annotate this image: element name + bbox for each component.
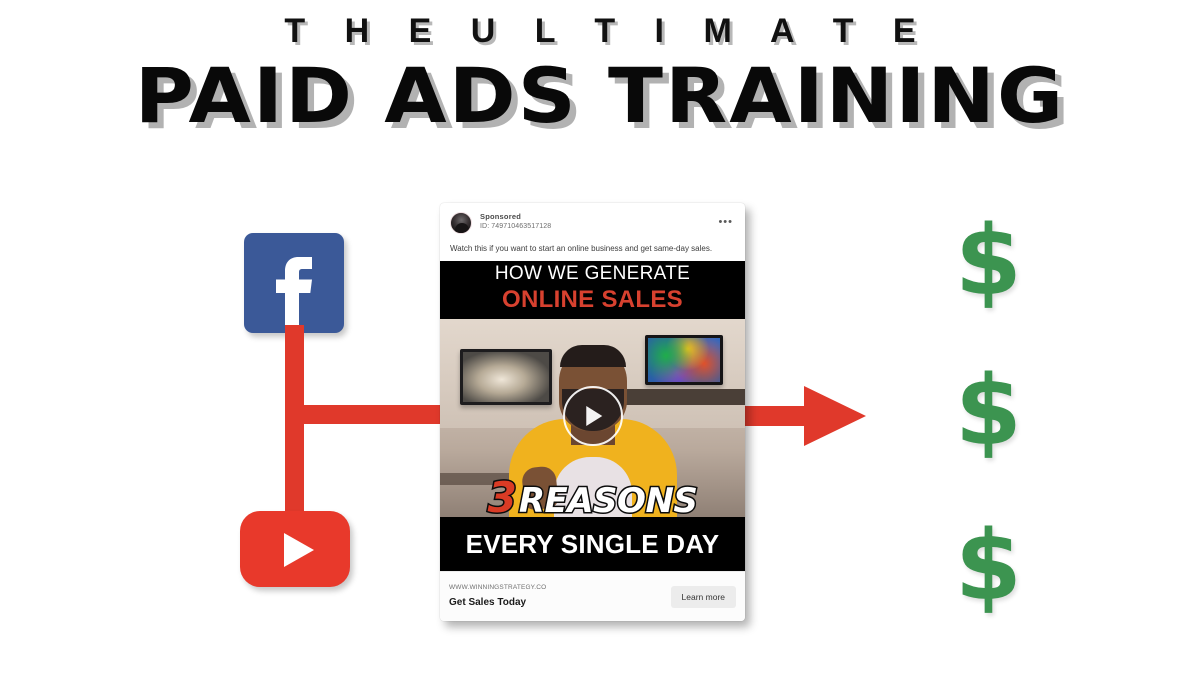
connector-vertical — [285, 325, 304, 530]
sponsored-label: Sponsored — [480, 212, 551, 221]
person-hair — [560, 345, 626, 367]
leads-to-arrow-icon — [742, 380, 867, 452]
thumbnail-top-banner: HOW WE GENERATE ONLINE SALES — [440, 261, 745, 319]
ad-caption-text: Watch this if you want to start an onlin… — [440, 234, 745, 261]
advertiser-avatar — [450, 212, 472, 234]
thumbnail-overlay-text: 3REASONS — [488, 477, 698, 519]
facebook-ad-card[interactable]: Sponsored ID: 749710463517128 ••• Watch … — [440, 203, 745, 621]
slide-canvas: T H E U L T I M A T E PAID ADS TRAINING … — [0, 0, 1200, 679]
facebook-icon[interactable] — [244, 233, 344, 333]
ad-video-thumbnail[interactable]: HOW WE GENERATE ONLINE SALES 3REASONS EV… — [440, 261, 745, 571]
play-button[interactable] — [563, 386, 623, 446]
ad-footer-text: WWW.WINNINGSTRATEGY.CO Get Sales Today — [449, 584, 546, 608]
ad-footer-headline: Get Sales Today — [449, 596, 546, 609]
ad-header-text: Sponsored ID: 749710463517128 — [480, 212, 551, 232]
facebook-f-glyph — [244, 233, 344, 333]
learn-more-button[interactable]: Learn more — [671, 586, 736, 608]
youtube-play-glyph — [240, 511, 350, 587]
dollar-sign-icon-2: $ — [955, 363, 1022, 459]
overlay-number: 3 — [488, 473, 516, 522]
overlay-word: REASONS — [519, 481, 698, 521]
title-line-1: T H E U L T I M A T E — [0, 14, 1200, 48]
youtube-icon[interactable] — [240, 511, 350, 587]
thumbnail-headline-line-2: ONLINE SALES — [440, 286, 745, 314]
title-line-2: PAID ADS TRAINING — [0, 56, 1200, 136]
thumbnail-bottom-banner: EVERY SINGLE DAY — [440, 517, 745, 571]
ad-footer-url: WWW.WINNINGSTRATEGY.CO — [449, 584, 546, 592]
thumbnail-bottom-text: EVERY SINGLE DAY — [466, 529, 720, 560]
dollar-sign-icon-1: $ — [955, 213, 1022, 309]
dollar-sign-icon-3: $ — [955, 518, 1022, 614]
play-triangle-icon — [586, 406, 602, 426]
ad-card-header: Sponsored ID: 749710463517128 ••• — [440, 203, 745, 234]
connector-horizontal — [285, 405, 450, 424]
thumbnail-headline-line-1: HOW WE GENERATE — [440, 264, 745, 285]
page-title: T H E U L T I M A T E PAID ADS TRAINING — [0, 14, 1200, 136]
ad-card-footer: WWW.WINNINGSTRATEGY.CO Get Sales Today L… — [440, 571, 745, 621]
ad-id-label: ID: 749710463517128 — [480, 223, 551, 232]
more-options-icon[interactable]: ••• — [718, 217, 733, 228]
